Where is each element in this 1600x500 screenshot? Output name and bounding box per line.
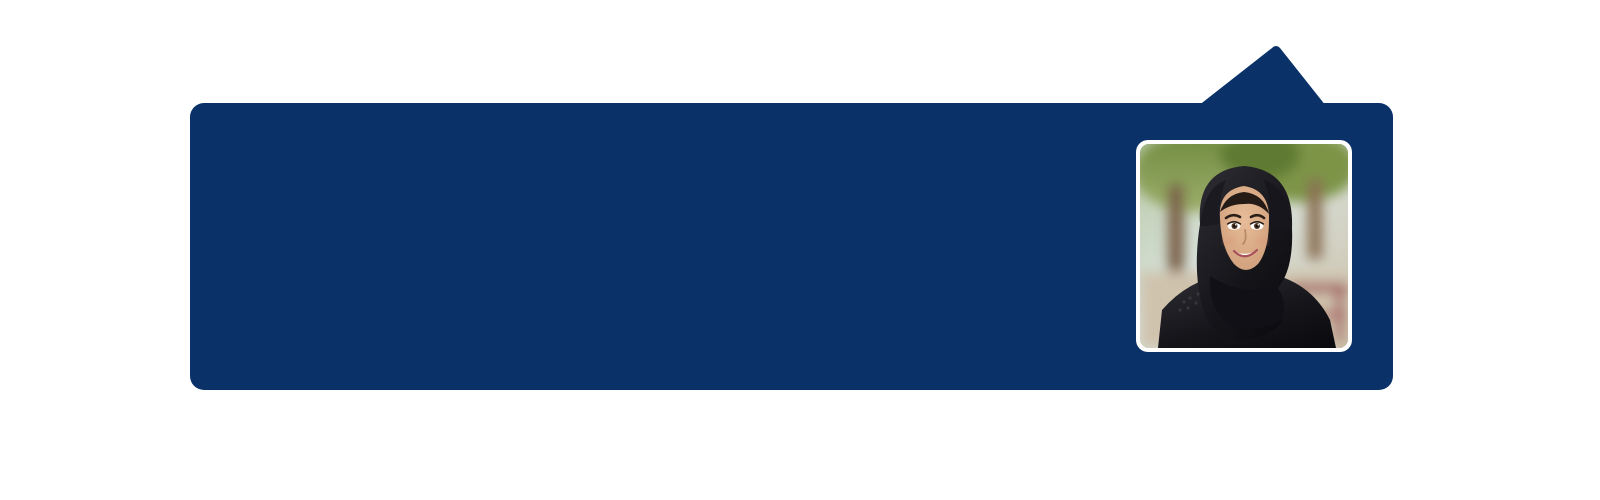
avatar-photo [1140,144,1348,348]
review-testimonial-canvas: 4,8 ملاك السعودية ، جدة هذا المتجر الإلك… [0,0,1600,500]
speech-bubble-tail [1198,44,1326,106]
avatar [1136,140,1352,352]
